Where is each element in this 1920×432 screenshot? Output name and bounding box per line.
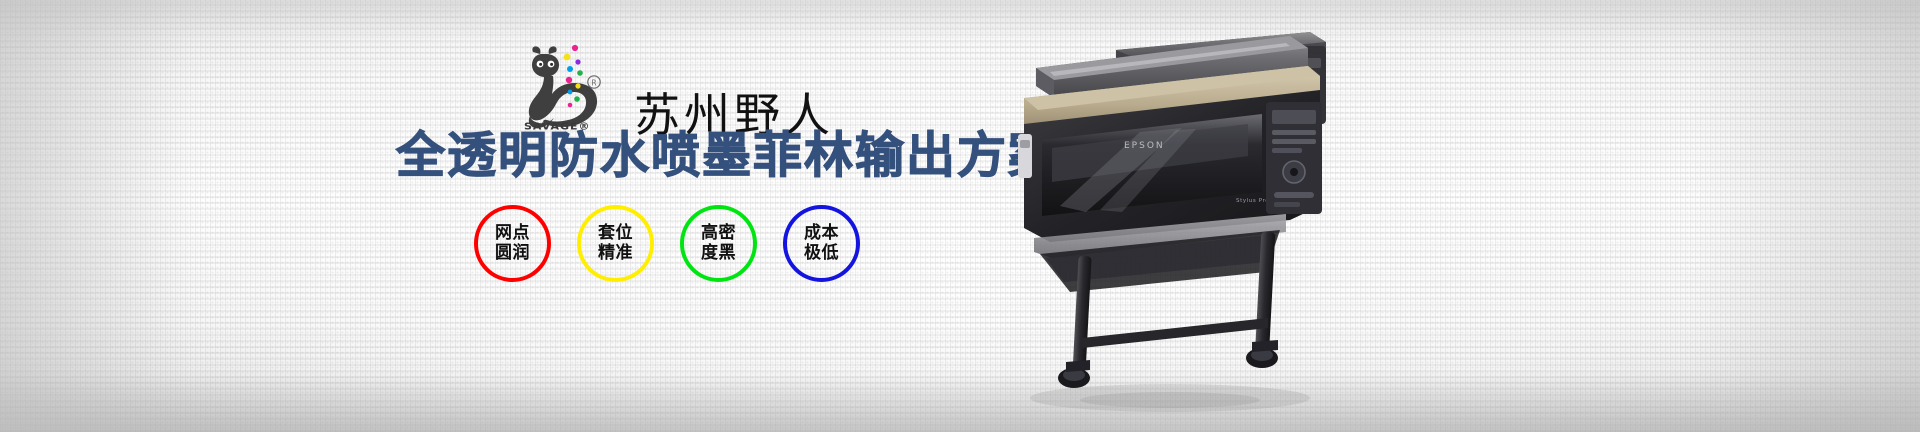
badge-line-1: 套位 [598,224,633,244]
large-format-inkjet-printer: EPSON Stylus Pro [990,6,1430,426]
badge-line-2: 度黑 [701,244,736,264]
badge-low-cost: 成本 极低 [783,205,860,282]
feature-badge-list: 网点 圆润 套位 精准 高密 度黑 成本 极低 [474,205,860,282]
badge-line-2: 精准 [598,244,633,264]
banner-content: R SAVAGE® 苏州野人 全透明防水喷墨菲林输出方案 网点 圆润 套位 精准… [0,0,1060,432]
promo-banner: R SAVAGE® 苏州野人 全透明防水喷墨菲林输出方案 网点 圆润 套位 精准… [0,0,1920,432]
badge-line-2: 极低 [804,244,839,264]
svg-text:R: R [591,79,596,88]
badge-dot-roundness: 网点 圆润 [474,205,551,282]
badge-line-2: 圆润 [495,244,530,264]
svg-text:Stylus Pro: Stylus Pro [1236,198,1269,204]
badge-line-1: 成本 [804,224,839,244]
page-title: 全透明防水喷墨菲林输出方案 [396,131,1059,180]
badge-high-density-black: 高密 度黑 [680,205,757,282]
svg-text:EPSON: EPSON [1124,141,1165,151]
badge-line-1: 高密 [701,224,736,244]
badge-line-1: 网点 [495,224,530,244]
badge-registration-accuracy: 套位 精准 [577,205,654,282]
